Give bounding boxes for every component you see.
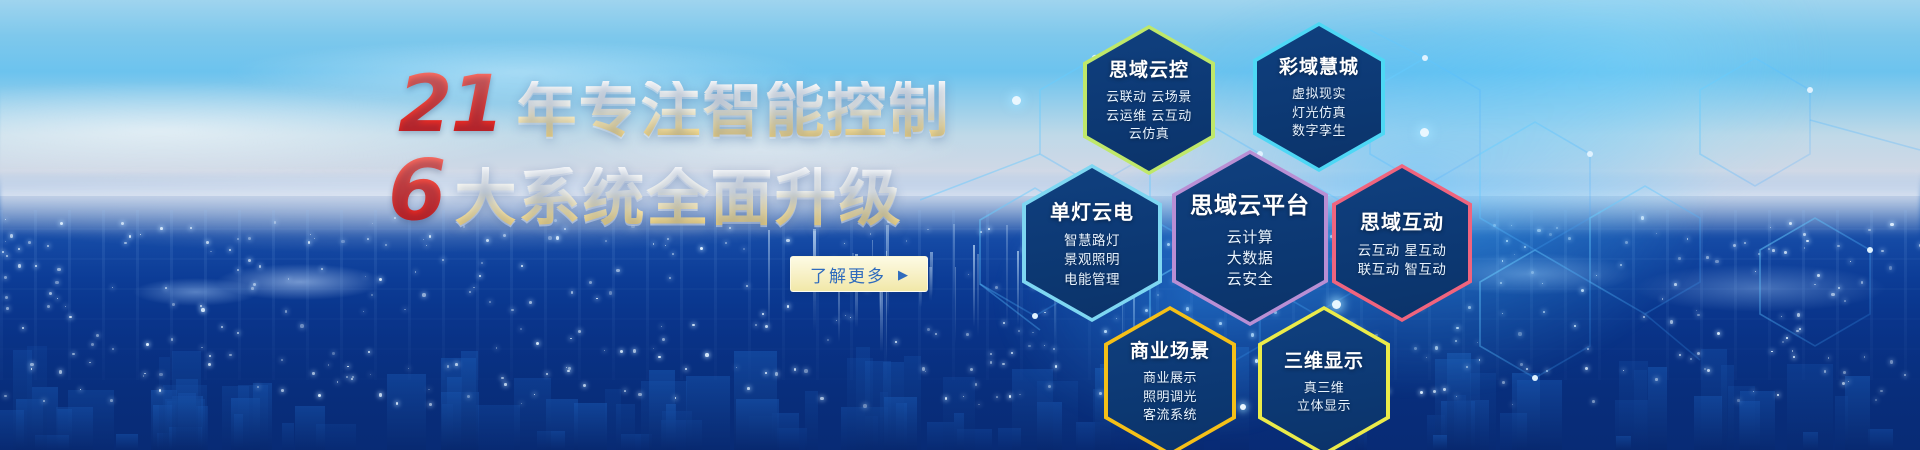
- hexagon-item: 真三维: [1297, 380, 1351, 398]
- hexagon-diagram: 思域云控云联动 云场景云运维 云互动云仿真彩域慧城虚拟现实灯光仿真数字孪生单灯云…: [0, 0, 1920, 450]
- hexagon-item-list: 云互动 星互动联互动 智互动: [1358, 242, 1447, 280]
- hexagon-item-list: 云计算大数据云安全: [1227, 227, 1274, 291]
- hexagon-title: 商业场景: [1130, 336, 1210, 363]
- hexagon-item: 联互动 智互动: [1358, 261, 1447, 280]
- hexagon-item: 景观照明: [1064, 251, 1120, 270]
- hexagon-item: 智慧路灯: [1064, 232, 1120, 251]
- hexagon-content: 思域云控云联动 云场景云运维 云互动云仿真: [1083, 55, 1215, 144]
- hexagon-content: 思域云平台云计算大数据云安全: [1172, 186, 1328, 291]
- hexagon-title: 单灯云电: [1050, 196, 1134, 225]
- hexagon-item: 电能管理: [1064, 271, 1120, 290]
- hexagon-siyu-interaction[interactable]: 思域互动云互动 星互动联互动 智互动: [1332, 164, 1472, 322]
- hexagon-item: 云计算: [1227, 227, 1274, 248]
- hexagon-title: 彩域慧城: [1279, 52, 1359, 79]
- hexagon-content: 三维显示真三维立体显示: [1258, 346, 1390, 417]
- hexagon-title: 思域互动: [1360, 206, 1444, 235]
- hexagon-siyu-cloud-platform[interactable]: 思域云平台云计算大数据云安全: [1172, 150, 1328, 326]
- hexagon-content: 单灯云电智慧路灯景观照明电能管理: [1022, 196, 1162, 289]
- hexagon-commercial-scene[interactable]: 商业场景商业展示照明调光客流系统: [1104, 306, 1236, 450]
- hexagon-item-list: 智慧路灯景观照明电能管理: [1064, 232, 1120, 289]
- hexagon-item: 虚拟现实: [1292, 86, 1346, 104]
- hexagon-item: 客流系统: [1143, 407, 1197, 425]
- hexagon-item: 立体显示: [1297, 398, 1351, 416]
- hexagon-item: 云安全: [1227, 269, 1274, 290]
- network-node: [1332, 300, 1341, 309]
- hexagon-single-lamp-cloud-power[interactable]: 单灯云电智慧路灯景观照明电能管理: [1022, 164, 1162, 322]
- hexagon-item: 照明调光: [1143, 389, 1197, 407]
- network-node: [1240, 404, 1246, 410]
- hexagon-item: 云仿真: [1106, 126, 1192, 144]
- hexagon-content: 思域互动云互动 星互动联互动 智互动: [1332, 206, 1472, 280]
- hexagon-item-list: 虚拟现实灯光仿真数字孪生: [1292, 86, 1346, 141]
- hexagon-item: 云运维 云互动: [1106, 108, 1192, 126]
- hexagon-caiyu-smart-city[interactable]: 彩域慧城虚拟现实灯光仿真数字孪生: [1253, 22, 1385, 172]
- hexagon-title: 思域云平台: [1190, 186, 1310, 220]
- hexagon-item: 大数据: [1227, 248, 1274, 269]
- hexagon-item: 云互动 星互动: [1358, 242, 1447, 261]
- hexagon-item: 商业展示: [1143, 370, 1197, 388]
- hexagon-item-list: 真三维立体显示: [1297, 380, 1351, 417]
- hexagon-item: 数字孪生: [1292, 123, 1346, 141]
- hexagon-item-list: 商业展示照明调光客流系统: [1143, 370, 1197, 425]
- hexagon-three-dimensional-display[interactable]: 三维显示真三维立体显示: [1258, 306, 1390, 450]
- hexagon-item: 灯光仿真: [1292, 105, 1346, 123]
- network-node: [1012, 96, 1021, 105]
- hexagon-content: 彩域慧城虚拟现实灯光仿真数字孪生: [1253, 52, 1385, 141]
- hero-banner: 21 年专注智能控制 6 大系统全面升级 了解更多 ▶ 思域云控云联动 云场景云…: [0, 0, 1920, 450]
- hexagon-item-list: 云联动 云场景云运维 云互动云仿真: [1106, 89, 1192, 144]
- hexagon-title: 三维显示: [1284, 346, 1364, 373]
- hexagon-siyu-cloud-control[interactable]: 思域云控云联动 云场景云运维 云互动云仿真: [1083, 25, 1215, 175]
- hexagon-item: 云联动 云场景: [1106, 89, 1192, 107]
- hexagon-content: 商业场景商业展示照明调光客流系统: [1104, 336, 1236, 425]
- hexagon-title: 思域云控: [1109, 55, 1189, 82]
- network-node: [1420, 128, 1429, 137]
